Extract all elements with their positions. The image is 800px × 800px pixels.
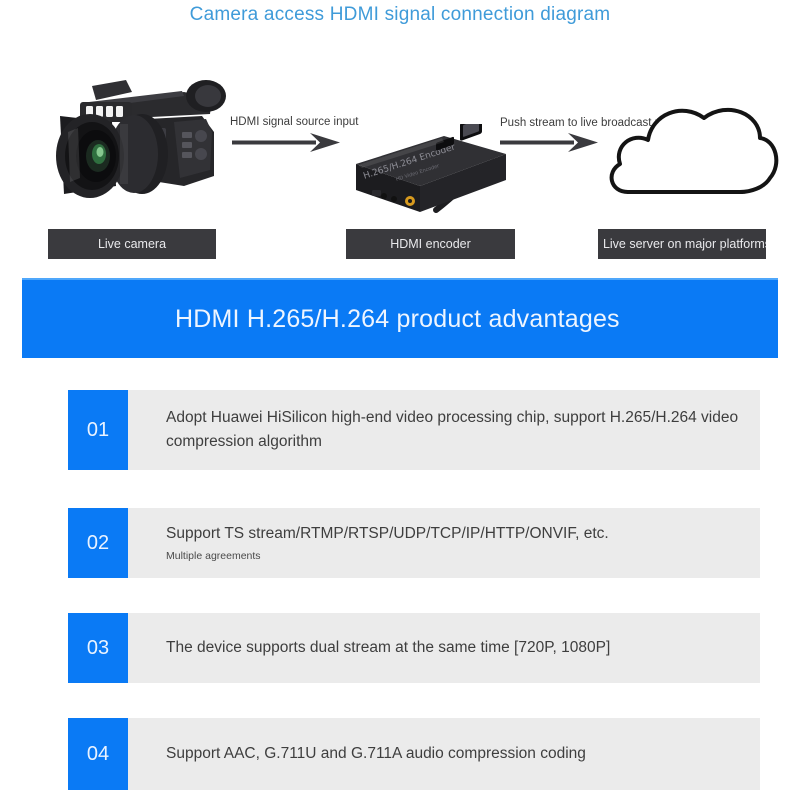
node-label-hdmi-encoder: HDMI encoder [346, 229, 515, 259]
feature-number-badge: 04 [68, 718, 128, 790]
feature-row: 02 Support TS stream/RTMP/RTSP/UDP/TCP/I… [68, 508, 760, 578]
feature-body: The device supports dual stream at the s… [128, 613, 760, 683]
feature-text: The device supports dual stream at the s… [166, 636, 746, 660]
feature-row: 03 The device supports dual stream at th… [68, 613, 760, 683]
cloud-icon [600, 80, 785, 205]
feature-text: Support AAC, G.711U and G.711A audio com… [166, 742, 746, 766]
node-label-live-server: Live server on major platforms [598, 229, 766, 259]
feature-row: 04 Support AAC, G.711U and G.711A audio … [68, 718, 760, 790]
feature-body: Adopt Huawei HiSilicon high-end video pr… [128, 390, 760, 470]
arrow-right-icon-2 [500, 132, 600, 154]
feature-subtext: Multiple agreements [166, 550, 746, 564]
feature-body: Support AAC, G.711U and G.711A audio com… [128, 718, 760, 790]
node-label-text: Live camera [98, 237, 166, 251]
feature-body: Support TS stream/RTMP/RTSP/UDP/TCP/IP/H… [128, 508, 760, 578]
arrow-right-icon-1 [232, 132, 342, 154]
video-camera-icon [34, 58, 234, 228]
arrow-caption-hdmi-input: HDMI signal source input [230, 116, 358, 128]
feature-number-badge: 03 [68, 613, 128, 683]
page-title: Camera access HDMI signal connection dia… [0, 4, 800, 26]
feature-number-badge: 01 [68, 390, 128, 470]
feature-row: 01 Adopt Huawei HiSilicon high-end video… [68, 390, 760, 470]
node-label-text: Live server on major platforms [603, 237, 766, 251]
node-label-text: HDMI encoder [390, 237, 471, 251]
banner-heading: HDMI H.265/H.264 product advantages [175, 305, 620, 334]
feature-number-badge: 02 [68, 508, 128, 578]
feature-text: Adopt Huawei HiSilicon high-end video pr… [166, 406, 746, 454]
feature-text: Support TS stream/RTMP/RTSP/UDP/TCP/IP/H… [166, 522, 746, 546]
connection-diagram: HDMI signal source input H.265/H.264 Enc… [0, 36, 800, 268]
product-advantages-banner: HDMI H.265/H.264 product advantages [22, 278, 778, 358]
node-label-live-camera: Live camera [48, 229, 216, 259]
